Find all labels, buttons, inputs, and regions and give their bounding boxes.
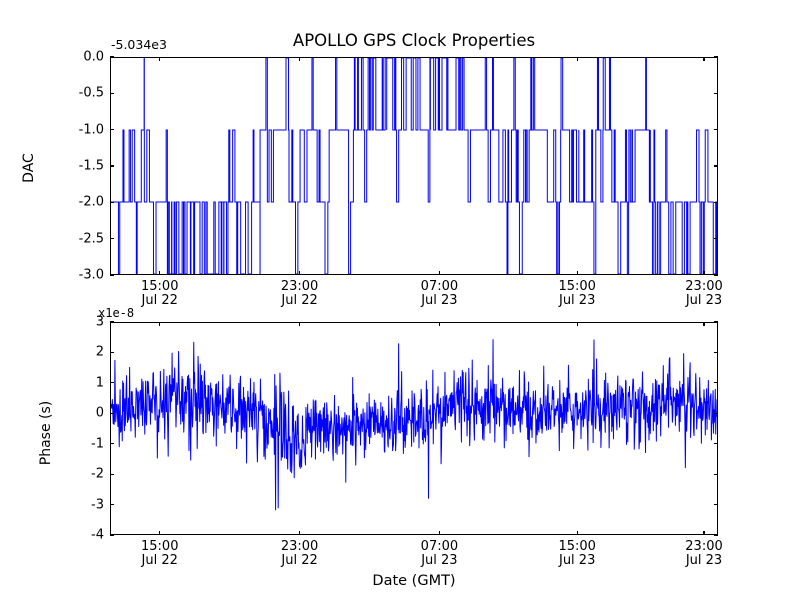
y-tick-mark (110, 129, 114, 130)
y-tick-mark (110, 504, 114, 505)
x-tick-label: 15:00Jul 22 (141, 280, 178, 308)
x-tick-label: 15:00Jul 22 (141, 540, 178, 568)
y-tick-label: -2 (46, 467, 104, 482)
y-tick-mark (714, 238, 718, 239)
y-tick-mark (714, 443, 718, 444)
y-tick-mark (110, 474, 114, 475)
y-tick-mark (714, 534, 718, 535)
y-tick-mark (714, 165, 718, 166)
y-tick-mark (110, 238, 114, 239)
y-tick-mark (110, 413, 114, 414)
y-tick-mark (110, 352, 114, 353)
x-tick-mark (159, 322, 160, 326)
y-tick-label: -4 (46, 528, 104, 543)
y-tick-mark (714, 504, 718, 505)
y-tick-mark (714, 202, 718, 203)
x-tick-mark (703, 531, 704, 535)
y-tick-mark (714, 382, 718, 383)
dac-y-axis-label: DAC (21, 118, 37, 218)
y-tick-mark (110, 56, 114, 57)
y-tick-label: -3 (46, 497, 104, 512)
x-tick-mark (577, 322, 578, 326)
y-tick-label: -3.0 (46, 268, 104, 283)
x-tick-label: 23:00Jul 23 (685, 280, 722, 308)
phase-line-chart (111, 323, 717, 534)
x-tick-label: 23:00Jul 23 (685, 540, 722, 568)
y-tick-mark (714, 93, 718, 94)
x-tick-mark (439, 271, 440, 275)
x-tick-label: 07:00Jul 23 (421, 280, 458, 308)
y-tick-mark (110, 202, 114, 203)
x-tick-mark (439, 57, 440, 61)
y-tick-mark (110, 443, 114, 444)
x-tick-mark (439, 322, 440, 326)
y-tick-mark (110, 382, 114, 383)
dac-line-chart (111, 58, 717, 274)
y-tick-label: -1 (46, 436, 104, 451)
y-tick-mark (714, 56, 718, 57)
y-tick-label: 0.0 (46, 50, 104, 65)
x-tick-mark (159, 271, 160, 275)
y-tick-label: -1.0 (46, 122, 104, 137)
x-tick-label: 15:00Jul 23 (558, 280, 595, 308)
x-tick-mark (577, 271, 578, 275)
y-tick-mark (110, 321, 114, 322)
y-tick-mark (110, 534, 114, 535)
y-tick-label: 3 (46, 315, 104, 330)
y-tick-label: 0 (46, 406, 104, 421)
x-tick-mark (299, 322, 300, 326)
y-tick-mark (714, 352, 718, 353)
y-tick-mark (110, 93, 114, 94)
matplotlib-figure: APOLLO GPS Clock Properties -5.034e3 DAC… (0, 0, 800, 600)
y-tick-mark (714, 129, 718, 130)
y-tick-label: 2 (46, 345, 104, 360)
y-tick-label: -0.5 (46, 86, 104, 101)
y-tick-mark (110, 165, 114, 166)
x-tick-mark (439, 531, 440, 535)
x-tick-label: 15:00Jul 23 (558, 540, 595, 568)
page-title: APOLLO GPS Clock Properties (110, 31, 718, 50)
y-tick-mark (714, 321, 718, 322)
x-tick-mark (703, 271, 704, 275)
phase-x-axis-label: Date (GMT) (110, 573, 718, 589)
x-tick-mark (159, 57, 160, 61)
dac-trace (111, 58, 717, 274)
y-tick-mark (714, 474, 718, 475)
y-tick-label: -2.5 (46, 231, 104, 246)
x-tick-mark (577, 531, 578, 535)
x-tick-label: 23:00Jul 22 (281, 540, 318, 568)
dac-y-offset-label: -5.034e3 (111, 37, 167, 52)
x-tick-mark (299, 57, 300, 61)
x-tick-label: 07:00Jul 23 (421, 540, 458, 568)
y-tick-label: -1.5 (46, 159, 104, 174)
x-tick-mark (577, 57, 578, 61)
y-tick-mark (714, 274, 718, 275)
x-tick-mark (703, 57, 704, 61)
dac-plot-area[interactable] (110, 57, 718, 275)
x-tick-mark (703, 322, 704, 326)
phase-trace (111, 340, 717, 510)
x-tick-label: 23:00Jul 22 (281, 280, 318, 308)
y-tick-mark (110, 274, 114, 275)
phase-plot-area[interactable] (110, 322, 718, 535)
y-tick-mark (714, 413, 718, 414)
y-tick-label: -2.0 (46, 195, 104, 210)
x-tick-mark (159, 531, 160, 535)
x-tick-mark (299, 271, 300, 275)
x-tick-mark (299, 531, 300, 535)
y-tick-label: 1 (46, 375, 104, 390)
